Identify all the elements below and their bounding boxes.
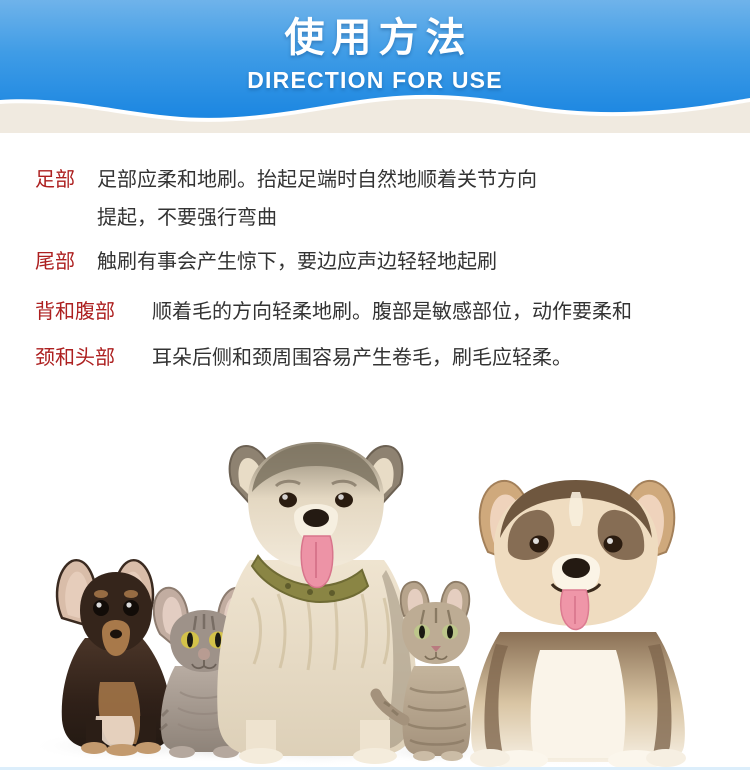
pets-illustration <box>0 420 750 770</box>
instruction-text-foot: 足部应柔和地刷。抬起足端时自然地顺着关节方向 <box>97 162 750 196</box>
instruction-list: 足部 足部应柔和地刷。抬起足端时自然地顺着关节方向 提起，不要强行弯曲 尾部 触… <box>0 162 750 374</box>
instruction-text-foot-continuation: 提起，不要强行弯曲 <box>0 200 750 234</box>
header-banner: 使用方法 DIRECTION FOR USE <box>0 0 750 133</box>
instruction-label-tail: 尾部 <box>35 244 97 278</box>
animal-husky-mix-dog <box>217 442 417 764</box>
bottom-accent-strip <box>0 767 750 770</box>
wave-shape <box>0 0 750 118</box>
instruction-item-neck-and-head: 颈和头部 耳朵后侧和颈周围容易产生卷毛，刷毛应轻柔。 <box>0 340 750 374</box>
instruction-text-tail: 触刷有事会产生惊下，要边应声边轻轻地起刷 <box>97 244 750 278</box>
instruction-text-neck-and-head: 耳朵后侧和颈周围容易产生卷毛，刷毛应轻柔。 <box>152 340 750 374</box>
instruction-item-back-and-belly: 背和腹部 顺着毛的方向轻柔地刷。腹部是敏感部位，动作要柔和 <box>0 294 750 328</box>
instruction-label-neck-and-head: 颈和头部 <box>35 340 152 374</box>
instruction-label-foot: 足部 <box>35 162 97 196</box>
pets-group-photo <box>0 420 750 770</box>
instruction-text-back-and-belly: 顺着毛的方向轻柔地刷。腹部是敏感部位，动作要柔和 <box>152 294 750 328</box>
instruction-item-tail: 尾部 触刷有事会产生惊下，要边应声边轻轻地起刷 <box>0 244 750 278</box>
instruction-label-back-and-belly: 背和腹部 <box>35 294 152 328</box>
banner-background-wave <box>0 0 750 133</box>
instruction-item-foot: 足部 足部应柔和地刷。抬起足端时自然地顺着关节方向 <box>0 162 750 196</box>
